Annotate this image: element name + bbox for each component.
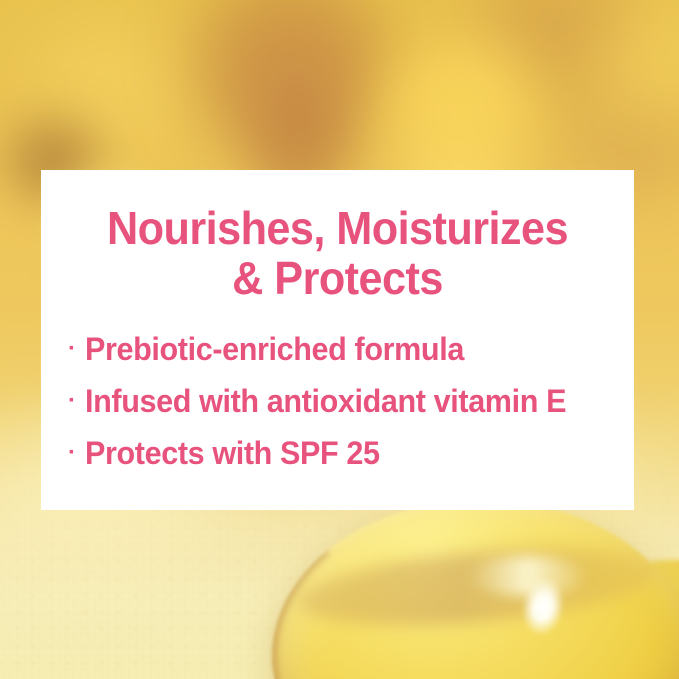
- list-item-label: Protects with SPF 25: [85, 437, 380, 469]
- bullet-dot-icon: ·: [68, 389, 85, 413]
- list-item-label: Infused with antioxidant vitamin E: [85, 385, 566, 417]
- list-item: · Infused with antioxidant vitamin E: [68, 385, 634, 417]
- list-item: · Protects with SPF 25: [68, 437, 634, 469]
- benefit-list: · Prebiotic-enriched formula · Infused w…: [41, 333, 634, 469]
- benefits-card: Nourishes, Moisturizes & Protects · Preb…: [41, 170, 634, 510]
- headline: Nourishes, Moisturizes & Protects: [59, 204, 616, 303]
- bullet-dot-icon: ·: [68, 441, 85, 465]
- headline-line-2: & Protects: [232, 252, 443, 304]
- product-benefit-graphic: Nourishes, Moisturizes & Protects · Preb…: [0, 0, 679, 679]
- list-item: · Prebiotic-enriched formula: [68, 333, 634, 365]
- list-item-label: Prebiotic-enriched formula: [85, 333, 464, 365]
- headline-line-1: Nourishes, Moisturizes: [107, 202, 568, 254]
- bullet-dot-icon: ·: [68, 337, 85, 361]
